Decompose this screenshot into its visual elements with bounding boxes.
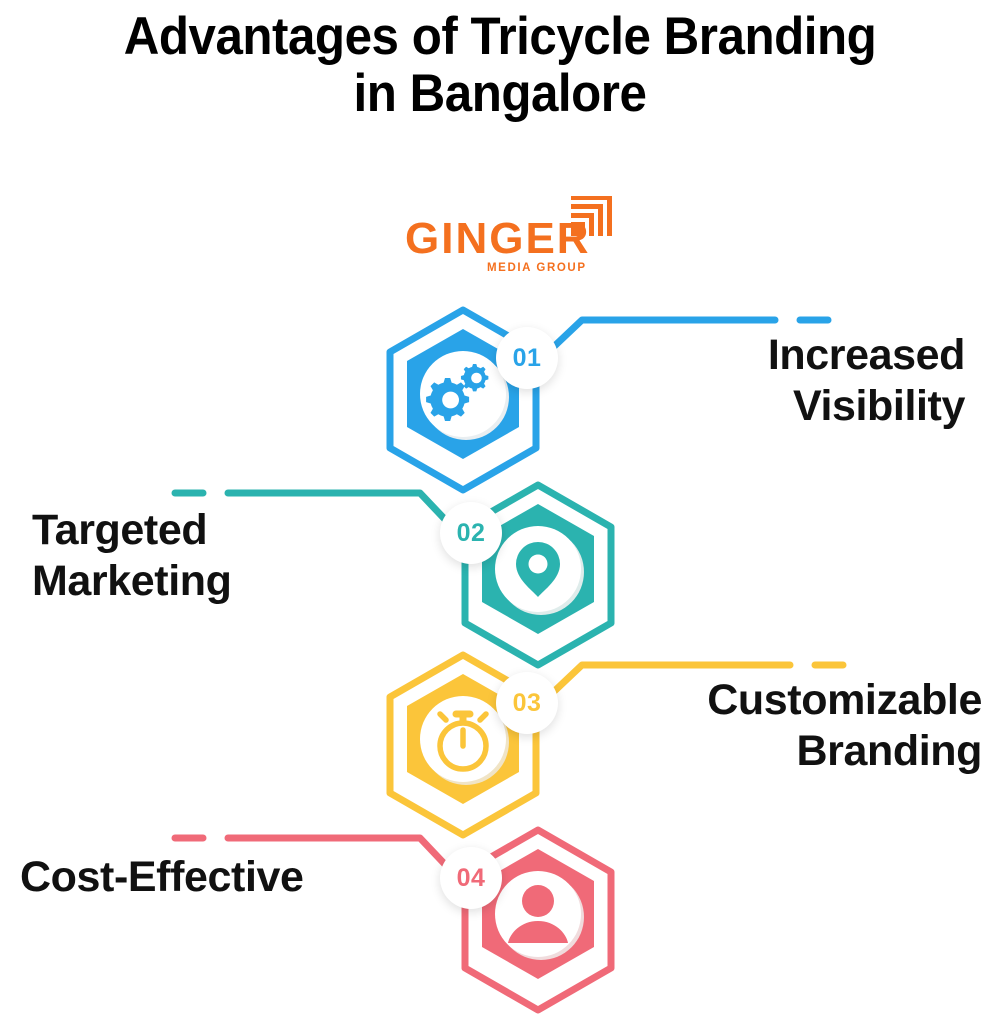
- logo-tagline: MEDIA GROUP: [487, 262, 587, 274]
- nested-squares-mark-icon: [567, 196, 617, 242]
- item-label-04: Cost-Effective: [20, 852, 480, 903]
- item-label-03: Customizable Branding: [522, 675, 982, 777]
- title-line-1: Advantages of Tricycle Branding: [35, 8, 965, 65]
- title-line-2: in Bangalore: [35, 65, 965, 122]
- page-title: Advantages of Tricycle Branding in Banga…: [0, 8, 1000, 122]
- brand-logo: GINGER MEDIA GROUP: [405, 196, 620, 276]
- item-label-01: Increased Visibility: [545, 330, 965, 432]
- logo-wordmark: GINGER: [405, 216, 591, 262]
- item-label-02: Targeted Marketing: [32, 505, 452, 607]
